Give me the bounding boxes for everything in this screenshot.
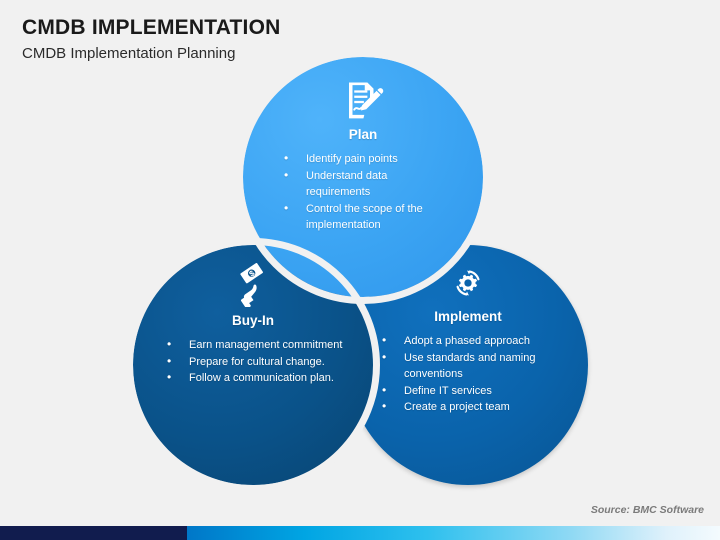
list-item: Create a project team xyxy=(382,399,558,416)
document-pencil-icon xyxy=(342,79,384,121)
diagram-circle-plan[interactable]: Plan Identify pain points Understand dat… xyxy=(243,57,483,297)
circle-title-buy-in: Buy-In xyxy=(232,313,274,328)
list-item: Earn management commitment xyxy=(167,337,345,354)
source-credit: Source: BMC Software xyxy=(591,504,704,516)
three-circle-diagram: Plan Identify pain points Understand dat… xyxy=(0,0,720,540)
list-item: Adopt a phased approach xyxy=(382,333,558,350)
decorative-bottom-bar xyxy=(0,526,720,540)
list-item: Understand data requirements xyxy=(284,168,442,201)
list-item: Use standards and naming conventions xyxy=(382,350,558,383)
bottom-bar-gradient-segment xyxy=(187,526,720,540)
bullet-list-buy-in: Earn management commitment Prepare for c… xyxy=(167,337,345,387)
list-item: Define IT services xyxy=(382,383,558,400)
bottom-bar-dark-segment xyxy=(0,526,187,540)
circle-title-plan: Plan xyxy=(349,127,378,142)
list-item: Prepare for cultural change. xyxy=(167,354,345,371)
bullet-list-plan: Identify pain points Understand data req… xyxy=(284,151,442,234)
bullet-list-implement: Adopt a phased approach Use standards an… xyxy=(382,333,558,416)
list-item: Follow a communication plan. xyxy=(167,370,345,387)
circle-title-implement: Implement xyxy=(434,309,502,324)
list-item: Control the scope of the implementation xyxy=(284,201,442,234)
list-item: Identify pain points xyxy=(284,151,442,168)
